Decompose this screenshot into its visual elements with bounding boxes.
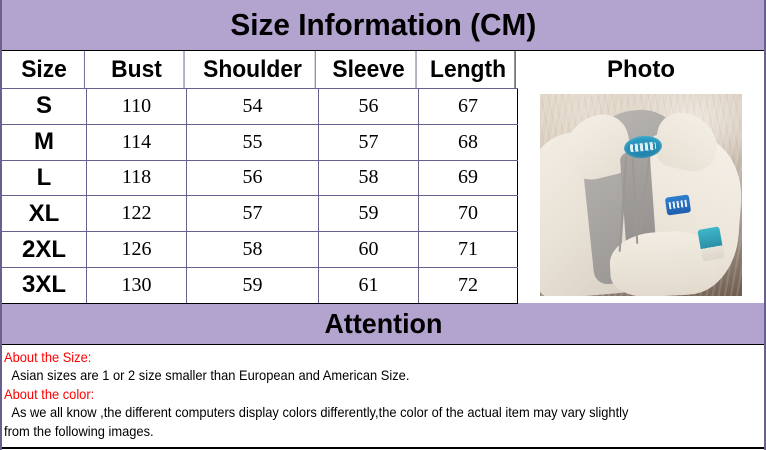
cell-size: XL <box>2 196 87 231</box>
table-row: 3XL 130 59 61 72 <box>2 268 518 304</box>
column-header-photo: Photo <box>518 51 764 89</box>
cell-length: 72 <box>419 268 518 303</box>
cell-length: 67 <box>419 89 518 124</box>
cell-sleeve: 59 <box>319 196 419 231</box>
cell-shoulder: 58 <box>187 232 319 267</box>
table-row: 2XL 126 58 60 71 <box>2 232 518 268</box>
column-header-shoulder: Shoulder <box>190 51 315 88</box>
cell-length: 71 <box>419 232 518 267</box>
product-photo <box>540 94 742 296</box>
cell-length: 68 <box>419 125 518 160</box>
cell-bust: 122 <box>87 196 187 231</box>
cell-sleeve: 61 <box>319 268 419 303</box>
attention-notes: About the Size: Asian sizes are 1 or 2 s… <box>2 344 764 449</box>
attention-banner: Attention <box>2 303 764 344</box>
cell-size: 2XL <box>2 232 87 267</box>
photo-small-logo-patch <box>665 194 691 215</box>
table-row: L 118 56 58 69 <box>2 161 518 197</box>
cell-shoulder: 55 <box>187 125 319 160</box>
column-header-length: Length <box>421 51 515 88</box>
page-title: Size Information (CM) <box>230 7 536 43</box>
size-table: Size Bust Shoulder Sleeve Length S 110 5… <box>2 50 764 303</box>
cell-size: L <box>2 161 87 196</box>
cell-bust: 118 <box>87 161 187 196</box>
about-size-heading: About the Size: <box>4 348 701 366</box>
column-header-bust: Bust <box>90 51 185 88</box>
cell-shoulder: 59 <box>187 268 319 303</box>
table-row: XL 122 57 59 70 <box>2 196 518 232</box>
size-chart-page: Size Information (CM) Size Bust Shoulder… <box>0 0 766 450</box>
table-row: S 110 54 56 67 <box>2 89 518 125</box>
cell-sleeve: 57 <box>319 125 419 160</box>
column-header-size: Size <box>4 51 85 88</box>
column-header-sleeve: Sleeve <box>322 51 417 88</box>
cell-sleeve: 58 <box>319 161 419 196</box>
cell-size: M <box>2 125 87 160</box>
size-table-grid: Size Bust Shoulder Sleeve Length S 110 5… <box>2 51 518 303</box>
cell-bust: 130 <box>87 268 187 303</box>
cell-bust: 110 <box>87 89 187 124</box>
cell-shoulder: 57 <box>187 196 319 231</box>
cell-shoulder: 56 <box>187 161 319 196</box>
about-size-text: Asian sizes are 1 or 2 size smaller than… <box>4 366 701 385</box>
table-row: M 114 55 57 68 <box>2 125 518 161</box>
cell-length: 70 <box>419 196 518 231</box>
cell-sleeve: 60 <box>319 232 419 267</box>
cell-size: 3XL <box>2 268 87 303</box>
cell-bust: 126 <box>87 232 187 267</box>
table-header-row: Size Bust Shoulder Sleeve Length <box>2 51 518 89</box>
cell-size: S <box>2 89 87 124</box>
photo-column: Photo <box>518 51 764 303</box>
about-color-heading: About the color: <box>4 385 701 403</box>
cell-sleeve: 56 <box>319 89 419 124</box>
cell-length: 69 <box>419 161 518 196</box>
product-photo-cell <box>518 89 764 303</box>
cell-shoulder: 54 <box>187 89 319 124</box>
about-color-text-line2: from the following images. <box>4 422 701 441</box>
about-color-text-line1: As we all know ,the different computers … <box>4 403 701 422</box>
attention-title: Attention <box>324 308 442 340</box>
cell-bust: 114 <box>87 125 187 160</box>
size-information-banner: Size Information (CM) <box>2 0 764 50</box>
